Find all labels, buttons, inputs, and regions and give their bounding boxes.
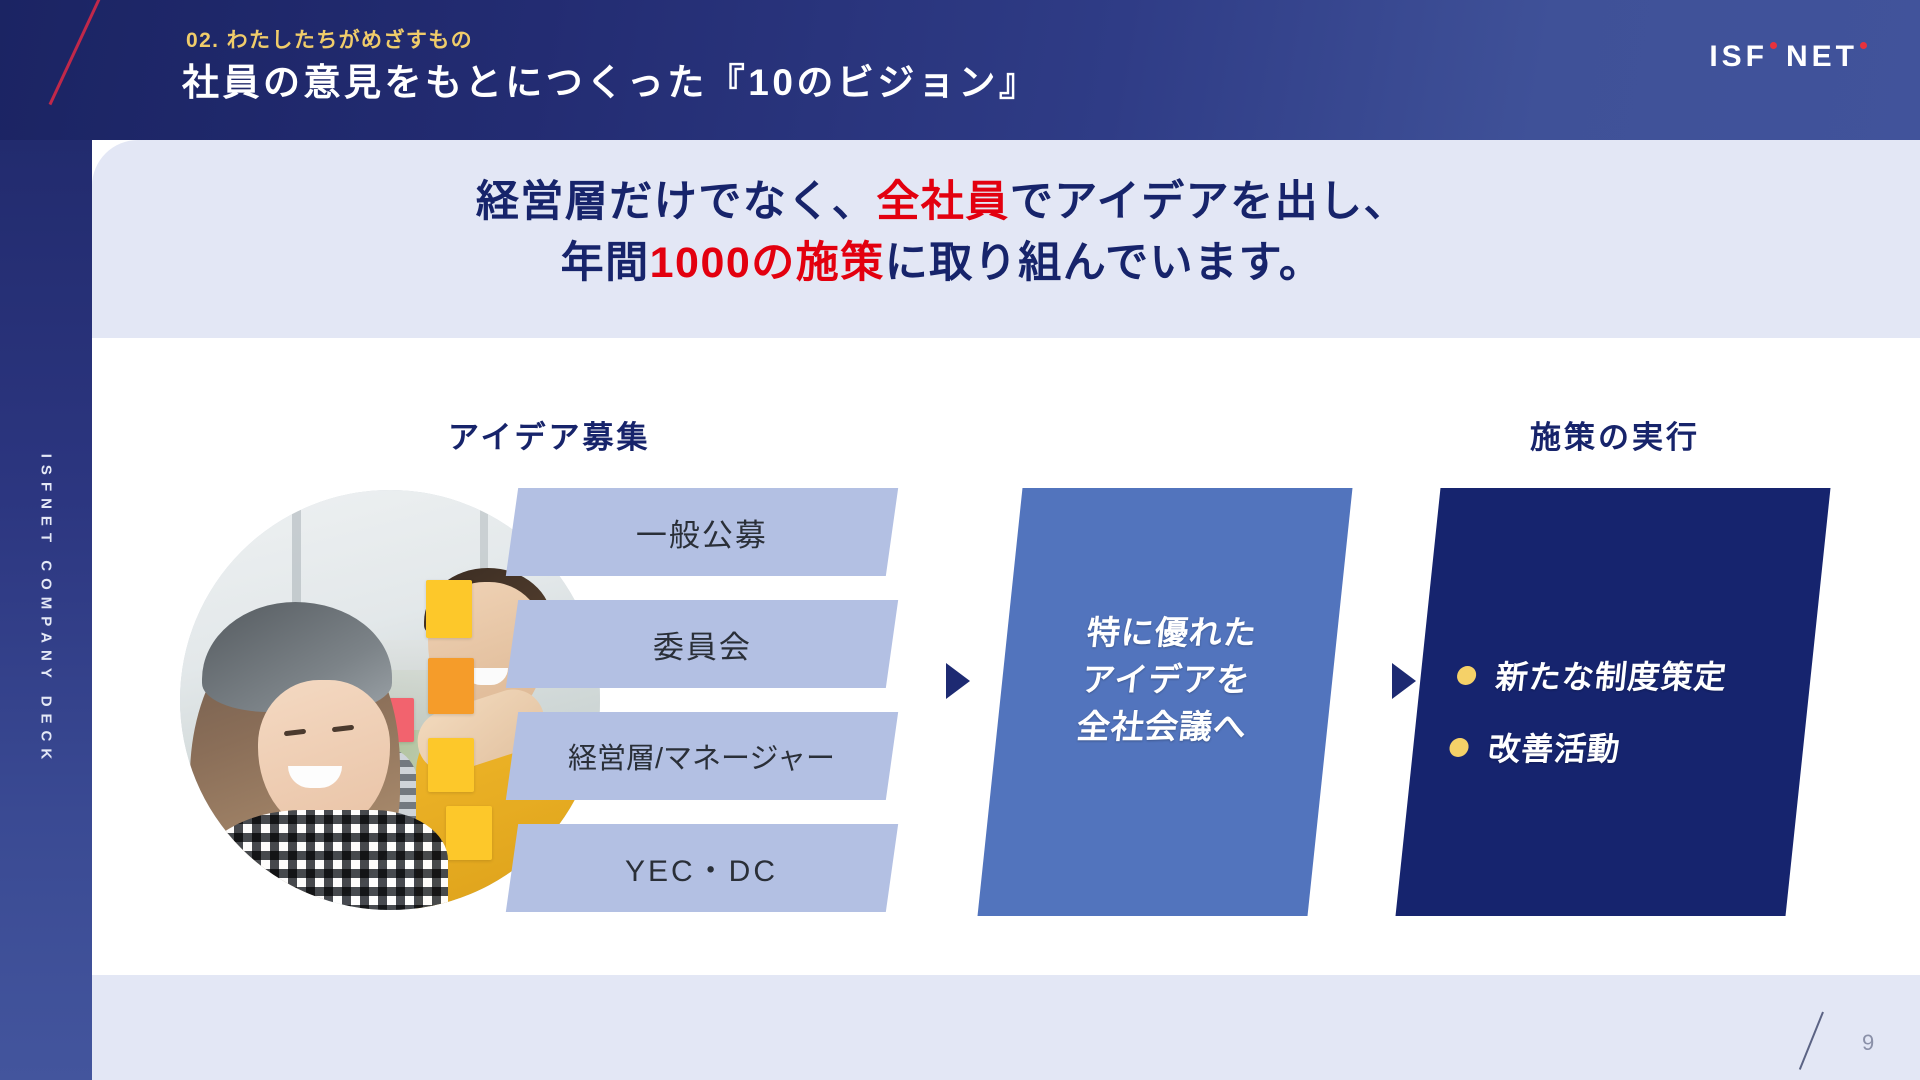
photo-sticky-note-yellow — [428, 738, 474, 792]
lead-line1-highlight: 全社員 — [876, 178, 1010, 226]
source-bar-committee: 委員会 — [506, 600, 898, 688]
page-number: 9 — [1862, 1030, 1874, 1056]
header-slash-accent — [49, 0, 103, 105]
list-item: 改善活動 — [1447, 724, 1832, 770]
column-title-implementation: 施策の実行 — [1530, 412, 1700, 457]
column-title-idea-collection: アイデア募集 — [448, 412, 650, 457]
bullet-dot-icon — [1449, 738, 1470, 757]
logo-dot-icon — [1770, 42, 1777, 49]
slide-canvas: 02. わたしたちがめざすもの 社員の意見をもとにつくった『10のビジョン』 I… — [0, 0, 1920, 1080]
slide-header: 02. わたしたちがめざすもの 社員の意見をもとにつくった『10のビジョン』 I… — [0, 0, 1920, 140]
source-bar-label: 一般公募 — [636, 510, 768, 555]
logo-text-net: NET — [1786, 40, 1858, 74]
middle-panel-line: アイデアを — [1080, 657, 1345, 704]
outcome-label: 新たな制度策定 — [1494, 652, 1730, 698]
source-bar-label: 経営層/マネージャー — [568, 735, 835, 777]
isfnet-logo: ISF NET — [1709, 40, 1858, 74]
photo-sticky-note-yellow — [446, 806, 492, 860]
footer-band — [92, 975, 1920, 1080]
list-item: 新たな制度策定 — [1455, 652, 1840, 698]
source-bar-label: 委員会 — [653, 622, 752, 667]
lead-line-2: 年間1000の施策に取り組んでいます。 — [92, 233, 1792, 294]
lead-line2-part-b: に取り組んでいます。 — [885, 239, 1324, 287]
photo-sticky-note-yellow — [426, 580, 472, 638]
source-bar-management: 経営層/マネージャー — [506, 712, 898, 800]
flow-arrow-right-icon — [946, 663, 970, 699]
source-bar-label: YEC・DC — [625, 846, 778, 890]
lead-line2-highlight: 1000の施策 — [650, 239, 885, 287]
lead-line-1: 経営層だけでなく、全社員でアイデアを出し、 — [92, 172, 1792, 233]
outcome-label: 改善活動 — [1486, 724, 1623, 770]
lead-statement: 経営層だけでなく、全社員でアイデアを出し、 年間1000の施策に取り組んでいます… — [92, 172, 1792, 294]
photo-woman-shirt — [198, 810, 448, 910]
outcome-list: 新たな制度策定 改善活動 — [1444, 652, 1839, 796]
vertical-sidebar: ISFNET COMPANY DECK — [0, 140, 92, 1080]
header-eyebrow: 02. わたしたちがめざすもの — [186, 24, 473, 54]
middle-panel-line: 全社会議へ — [1075, 704, 1340, 751]
lead-line2-part-a: 年間 — [561, 239, 650, 287]
source-bar-public-call: 一般公募 — [506, 488, 898, 576]
flow-arrow-right-icon — [1392, 663, 1416, 699]
header-title: 社員の意見をもとにつくった『10のビジョン』 — [182, 52, 1039, 106]
bullet-dot-icon — [1456, 666, 1477, 685]
logo-isf-label: ISF — [1709, 40, 1768, 73]
middle-panel-line: 特に優れた — [1084, 610, 1349, 657]
logo-net-label: NET — [1786, 40, 1858, 73]
source-bar-yec-dc: YEC・DC — [506, 824, 898, 912]
lead-line1-part-a: 経営層だけでなく、 — [476, 178, 877, 226]
sidebar-deck-label: ISFNET COMPANY DECK — [38, 454, 55, 766]
middle-panel-text: 特に優れた アイデアを 全社会議へ — [1075, 610, 1350, 751]
lead-line1-part-b: でアイデアを出し、 — [1010, 178, 1408, 226]
logo-dot-icon — [1860, 42, 1867, 49]
photo-sticky-note-orange — [428, 658, 474, 714]
logo-text-isf: ISF — [1709, 40, 1768, 74]
